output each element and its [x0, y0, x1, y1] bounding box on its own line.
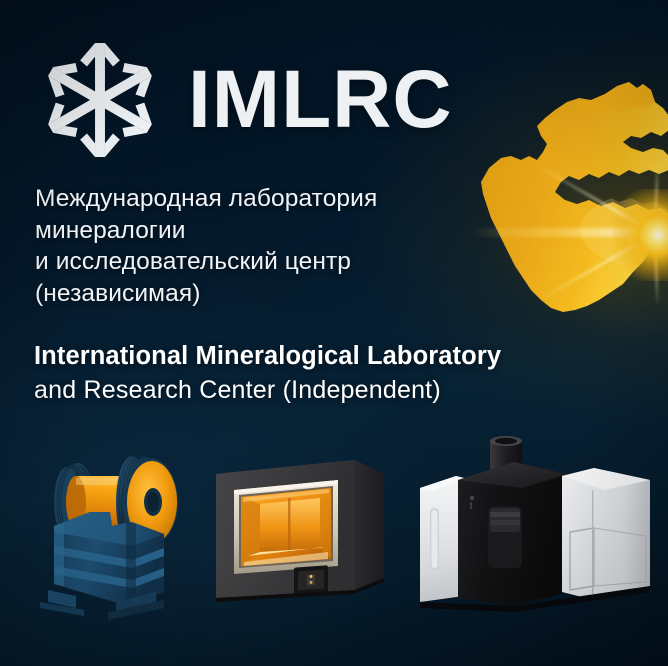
russian-title-line-1: Международная лаборатория	[35, 183, 377, 215]
poster-canvas: IMLRC Международная лаборатория минерало…	[0, 0, 668, 666]
brand-lockup: IMLRC	[38, 38, 453, 162]
spectrometer-sample-hatch[interactable]	[488, 506, 522, 568]
spectrometer-left-module	[420, 476, 464, 602]
russian-title-block: Международная лаборатория минералогии и …	[35, 183, 377, 309]
muffle-furnace-illustration	[208, 448, 386, 610]
furnace-chamber-glow	[241, 488, 331, 566]
english-title-block: International Mineralogical Laboratory a…	[34, 339, 501, 407]
jaw-crusher-illustration	[32, 442, 200, 620]
spectrometer-center-module	[458, 462, 568, 606]
map-north-accent	[455, 52, 668, 352]
furnace-control-panel[interactable]	[294, 565, 328, 595]
russian-title-line-2: минералогии	[35, 215, 377, 247]
english-title-line-1: International Mineralogical Laboratory	[34, 339, 501, 373]
tajikistan-map	[455, 52, 668, 352]
mass-spectrometer-illustration	[418, 436, 652, 616]
wordmark: IMLRC	[188, 59, 453, 141]
russian-title-line-3: и исследовательский центр	[35, 246, 377, 278]
english-title-line-2: and Research Center (Independent)	[34, 373, 501, 407]
russian-title-line-4: (независимая)	[35, 278, 377, 310]
snowflake-asterisk-icon	[38, 38, 162, 162]
spectrometer-right-module	[562, 468, 650, 600]
furnace-side-panel	[354, 460, 384, 590]
equipment-row: 2500S	[0, 430, 668, 630]
